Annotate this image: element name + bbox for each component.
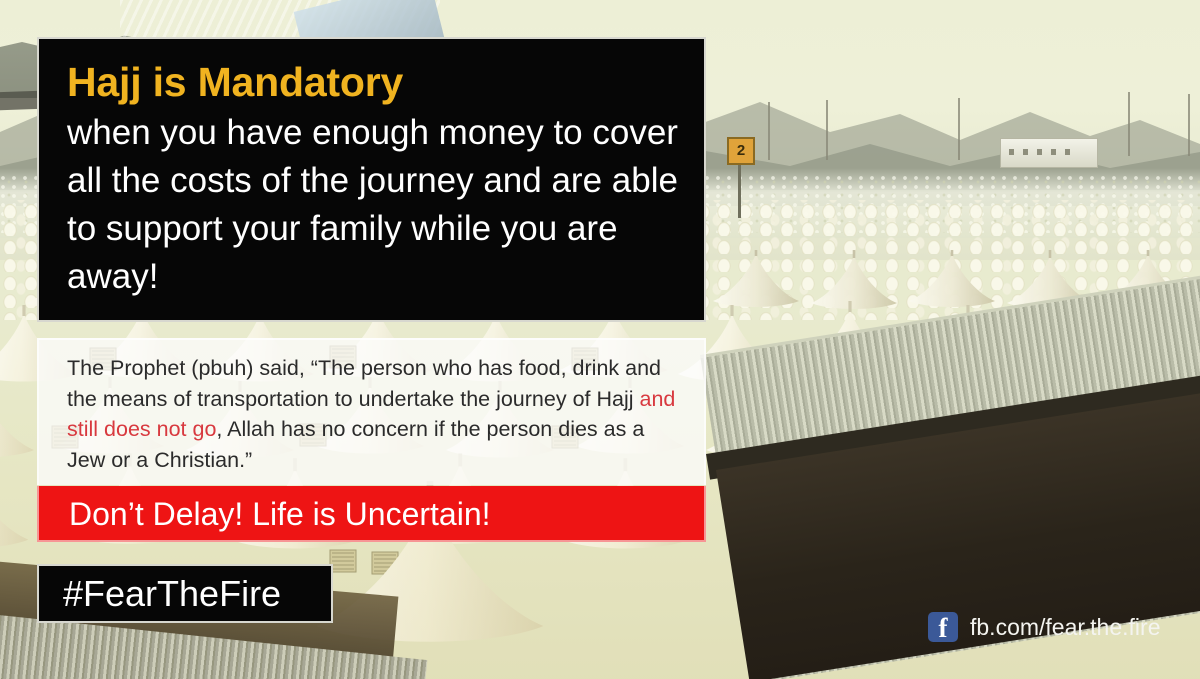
zone-sign-2: 2 (727, 137, 755, 165)
light-pole (1188, 94, 1190, 156)
poster-canvas: 2 (0, 0, 1200, 679)
cta-banner: Don’t Delay! Life is Uncertain! (37, 486, 706, 542)
hashtag-text: #FearTheFire (39, 566, 331, 621)
cta-text: Don’t Delay! Life is Uncertain! (39, 486, 704, 542)
headline-body: when you have enough money to cover all … (67, 109, 678, 301)
headline-box: Hajj is Mandatory when you have enough m… (37, 37, 706, 322)
facebook-badge[interactable]: f fb.com/fear.the.fire (928, 612, 1160, 642)
hadith-part-1: The Prophet (pbuh) said, “The person who… (67, 356, 661, 411)
hashtag-box: #FearTheFire (37, 564, 333, 623)
portable-cabin (1000, 138, 1098, 168)
hadith-box: The Prophet (pbuh) said, “The person who… (37, 338, 706, 485)
facebook-url[interactable]: fb.com/fear.the.fire (970, 614, 1160, 641)
facebook-f-icon[interactable]: f (928, 612, 958, 642)
light-pole (958, 98, 960, 160)
headline-title: Hajj is Mandatory (67, 57, 678, 107)
light-pole (1128, 92, 1130, 156)
light-pole (768, 102, 770, 160)
hadith-text: The Prophet (pbuh) said, “The person who… (67, 353, 682, 475)
facebook-f-glyph: f (928, 613, 958, 643)
light-pole (826, 100, 828, 160)
